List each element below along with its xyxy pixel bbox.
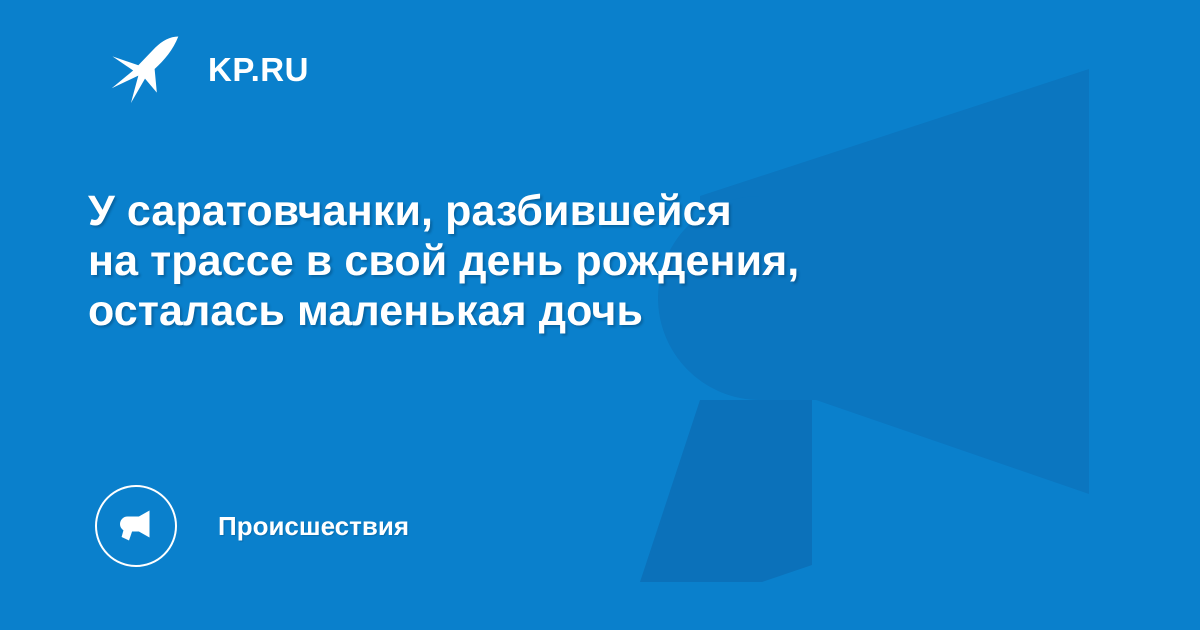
headline: У саратовчанки, разбившейся на трассе в … bbox=[88, 186, 1088, 336]
headline-line-1: У саратовчанки, разбившейся bbox=[88, 186, 1088, 236]
megaphone-icon bbox=[113, 503, 159, 549]
megaphone-handle-shape bbox=[640, 400, 812, 582]
category-label: Происшествия bbox=[218, 513, 409, 539]
category-badge[interactable]: Происшествия bbox=[95, 485, 409, 567]
swallow-bird-icon bbox=[108, 32, 182, 106]
social-share-card: KP.RU У саратовчанки, разбившейся на тра… bbox=[0, 0, 1200, 630]
headline-line-3: осталась маленькая дочь bbox=[88, 286, 1088, 336]
headline-line-2: на трассе в свой день рождения, bbox=[88, 236, 1088, 286]
brand-logo[interactable]: KP.RU bbox=[108, 32, 309, 106]
brand-name: KP.RU bbox=[208, 53, 309, 86]
category-icon-circle bbox=[95, 485, 177, 567]
